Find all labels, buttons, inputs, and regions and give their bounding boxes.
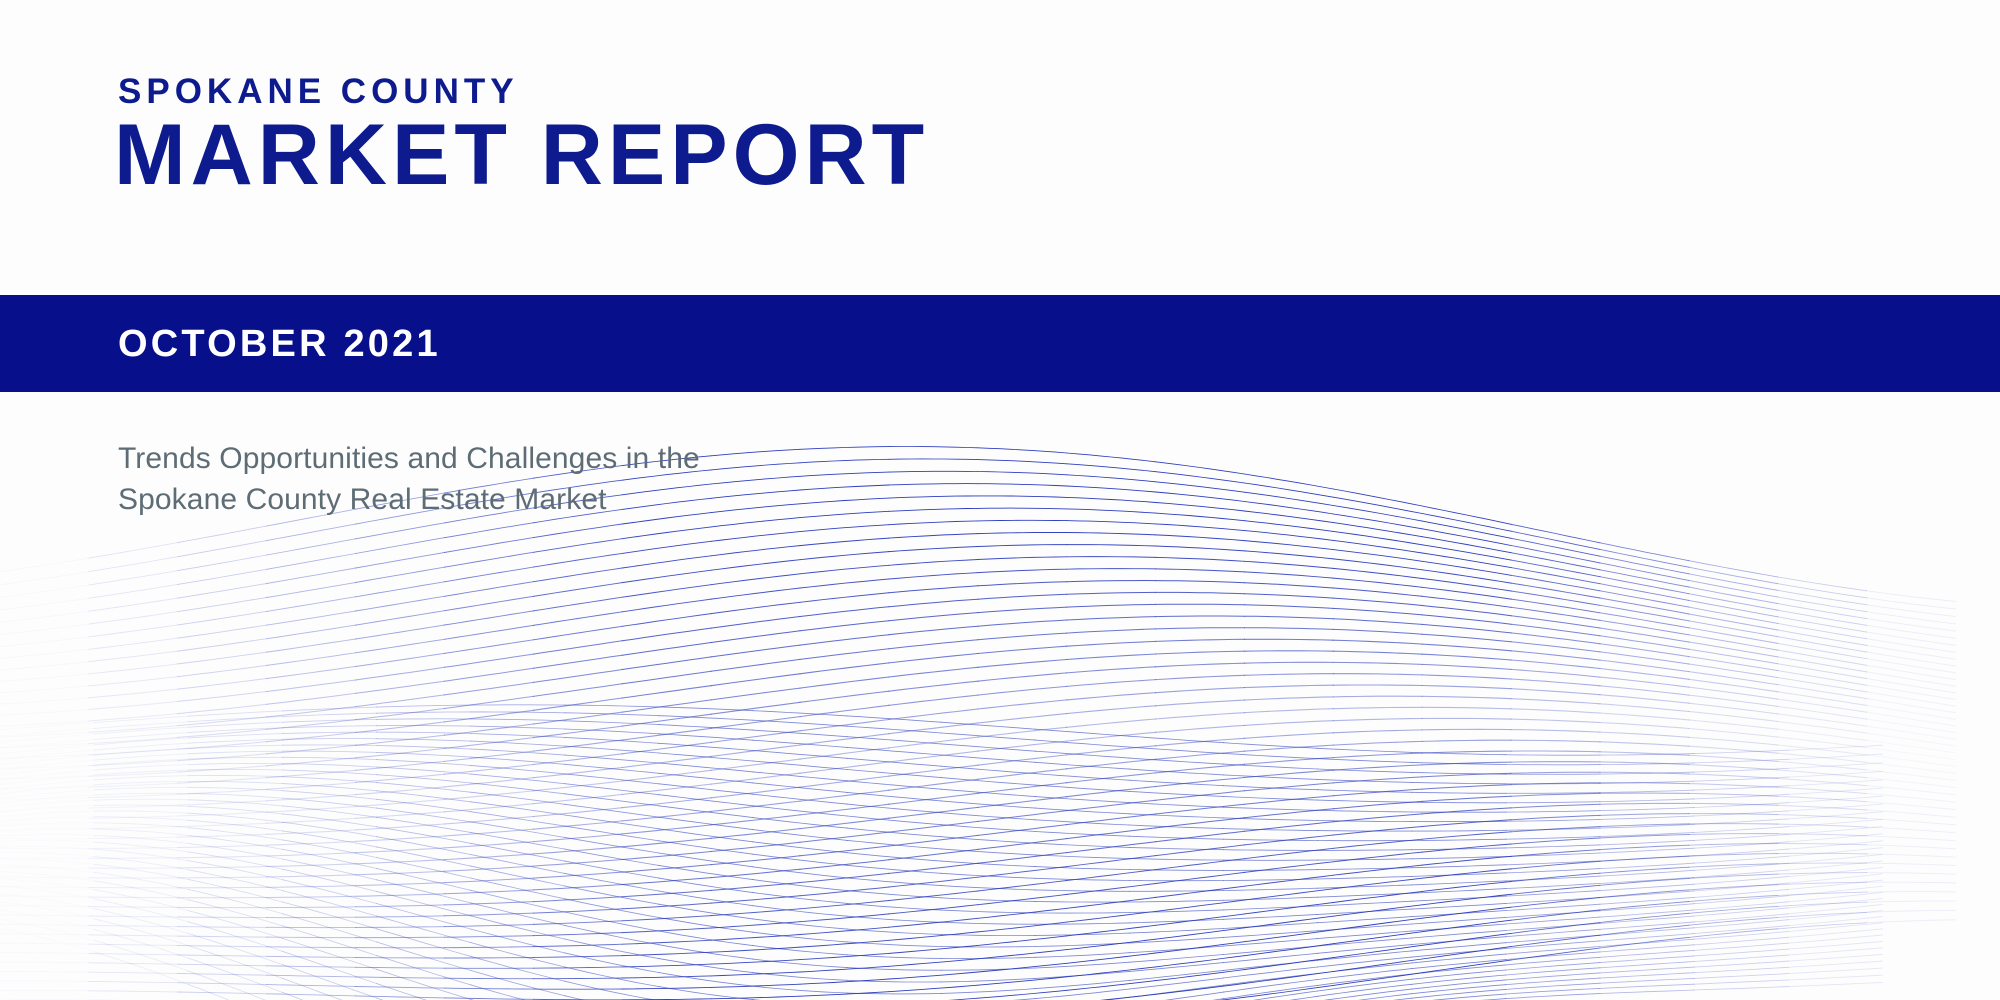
market-report-cover: SPOKANE COUNTY MARKET REPORT OCTOBER 202… xyxy=(0,0,2000,1000)
report-date-label: OCTOBER 2021 xyxy=(118,325,441,363)
page-title: MARKET REPORT xyxy=(114,112,929,198)
report-subtitle: Trends Opportunities and Challenges in t… xyxy=(118,438,700,520)
report-date-band: OCTOBER 2021 xyxy=(0,295,2000,392)
subtitle-line-2: Spokane County Real Estate Market xyxy=(118,479,700,520)
subtitle-line-1: Trends Opportunities and Challenges in t… xyxy=(118,438,700,479)
report-eyebrow: SPOKANE COUNTY xyxy=(118,74,519,109)
